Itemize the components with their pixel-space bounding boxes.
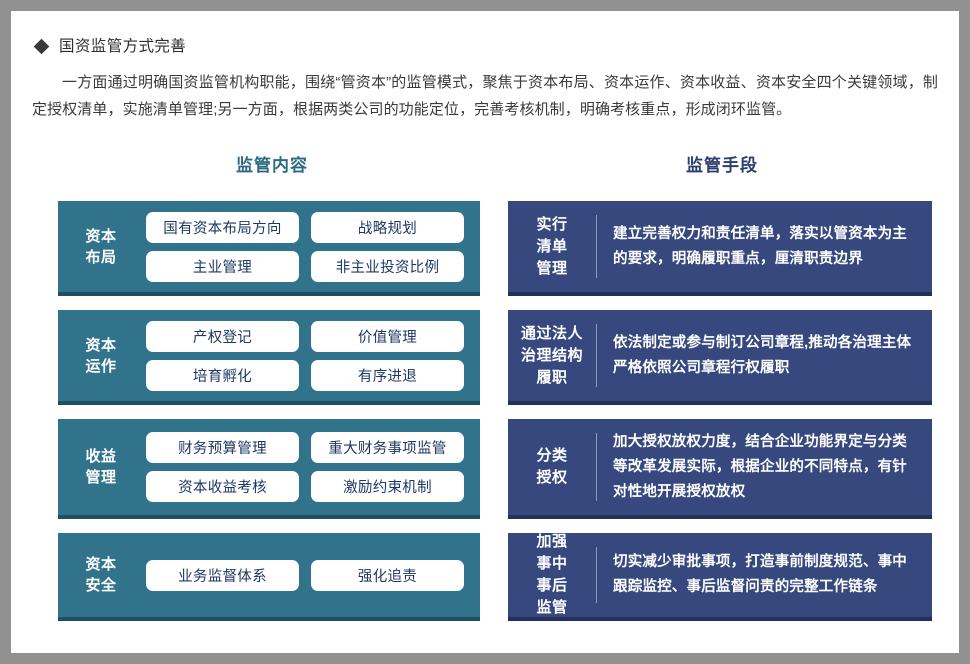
pill-grid: 国有资本布局方向 战略规划 主业管理 非主业投资比例 bbox=[144, 212, 466, 282]
content-card-capital-security[interactable]: 资本 安全 业务监督体系 强化追责 bbox=[58, 533, 480, 621]
card-label-line: 安全 bbox=[58, 575, 144, 596]
content-pill[interactable]: 价值管理 bbox=[311, 321, 464, 352]
slide-page: 国资监管方式完善 一方面通过明确国资监管机构职能，围绕“管资本”的监管模式，聚焦… bbox=[11, 11, 959, 653]
card-label: 实行 清单 管理 bbox=[508, 214, 596, 280]
content-pill[interactable]: 业务监督体系 bbox=[146, 560, 299, 591]
content-pill[interactable]: 产权登记 bbox=[146, 321, 299, 352]
content-pill[interactable]: 财务预算管理 bbox=[146, 432, 299, 463]
card-label: 资本 运作 bbox=[58, 335, 144, 377]
card-label-line: 资本 bbox=[58, 554, 144, 575]
content-pill[interactable]: 激励约束机制 bbox=[311, 471, 464, 502]
card-label-line: 授权 bbox=[508, 467, 596, 489]
card-label: 分类 授权 bbox=[508, 445, 596, 489]
content-pill[interactable]: 战略规划 bbox=[311, 212, 464, 243]
content-pill[interactable]: 重大财务事项监管 bbox=[311, 432, 464, 463]
pill-grid: 业务监督体系 强化追责 bbox=[144, 560, 466, 591]
card-label: 资本 布局 bbox=[58, 226, 144, 268]
method-description: 依法制定或参与制订公司章程,推动各治理主体严格依照公司章程行权履职 bbox=[597, 331, 916, 381]
card-label-line: 治理结构 bbox=[508, 345, 596, 367]
method-description: 切实减少审批事项，打造事前制度规范、事中跟踪监控、事后监督问责的完整工作链条 bbox=[597, 550, 916, 600]
card-label: 资本 安全 bbox=[58, 554, 144, 596]
supervision-content-column: 资本 布局 国有资本布局方向 战略规划 主业管理 非主业投资比例 资本 运作 产… bbox=[58, 201, 480, 621]
card-label: 加强 事中 事后 监管 bbox=[508, 531, 596, 619]
card-label-line: 事中 bbox=[508, 553, 596, 575]
diamond-bullet-icon bbox=[34, 39, 50, 55]
card-label-line: 实行 bbox=[508, 214, 596, 236]
method-card-process-supervision[interactable]: 加强 事中 事后 监管 切实减少审批事项，打造事前制度规范、事中跟踪监控、事后监… bbox=[508, 533, 932, 621]
content-card-profit-management[interactable]: 收益 管理 财务预算管理 重大财务事项监管 资本收益考核 激励约束机制 bbox=[58, 419, 480, 519]
content-pill[interactable]: 强化追责 bbox=[311, 560, 464, 591]
content-card-capital-operation[interactable]: 资本 运作 产权登记 价值管理 培育孵化 有序进退 bbox=[58, 310, 480, 405]
card-label-line: 布局 bbox=[58, 247, 144, 268]
card-label-line: 分类 bbox=[508, 445, 596, 467]
card-label-line: 资本 bbox=[58, 226, 144, 247]
card-label-line: 资本 bbox=[58, 335, 144, 356]
card-label-line: 监管 bbox=[508, 597, 596, 619]
card-label-line: 收益 bbox=[58, 446, 144, 467]
column-header-supervision-content: 监管内容 bbox=[58, 151, 486, 176]
card-label-line: 事后 bbox=[508, 575, 596, 597]
page-title: 国资监管方式完善 bbox=[59, 39, 186, 55]
card-label-line: 管理 bbox=[58, 467, 144, 488]
method-card-corporate-governance[interactable]: 通过法人 治理结构 履职 依法制定或参与制订公司章程,推动各治理主体严格依照公司… bbox=[508, 310, 932, 405]
card-label-line: 通过法人 bbox=[508, 323, 596, 345]
card-label: 收益 管理 bbox=[58, 446, 144, 488]
content-pill[interactable]: 国有资本布局方向 bbox=[146, 212, 299, 243]
card-label-line: 履职 bbox=[508, 367, 596, 389]
method-card-classified-authorization[interactable]: 分类 授权 加大授权放权力度，结合企业功能界定与分类等改革发展实际，根据企业的不… bbox=[508, 419, 932, 519]
pill-grid: 财务预算管理 重大财务事项监管 资本收益考核 激励约束机制 bbox=[144, 432, 466, 502]
method-description: 建立完善权力和责任清单，落实以管资本为主的要求，明确履职重点，厘清职责边界 bbox=[597, 222, 916, 272]
supervision-methods-column: 实行 清单 管理 建立完善权力和责任清单，落实以管资本为主的要求，明确履职重点，… bbox=[508, 201, 932, 621]
content-card-capital-layout[interactable]: 资本 布局 国有资本布局方向 战略规划 主业管理 非主业投资比例 bbox=[58, 201, 480, 296]
card-label-line: 加强 bbox=[508, 531, 596, 553]
card-label-line: 运作 bbox=[58, 356, 144, 377]
intro-paragraph: 一方面通过明确国资监管机构职能，围绕“管资本”的监管模式，聚焦于资本布局、资本运… bbox=[32, 69, 938, 123]
content-pill[interactable]: 有序进退 bbox=[311, 360, 464, 391]
section-heading: 国资监管方式完善 bbox=[36, 39, 186, 55]
column-header-supervision-methods: 监管手段 bbox=[508, 151, 936, 176]
card-label-line: 管理 bbox=[508, 258, 596, 280]
card-label: 通过法人 治理结构 履职 bbox=[508, 323, 596, 389]
content-pill[interactable]: 主业管理 bbox=[146, 251, 299, 282]
method-card-list-management[interactable]: 实行 清单 管理 建立完善权力和责任清单，落实以管资本为主的要求，明确履职重点，… bbox=[508, 201, 932, 296]
content-pill[interactable]: 培育孵化 bbox=[146, 360, 299, 391]
method-description: 加大授权放权力度，结合企业功能界定与分类等改革发展实际，根据企业的不同特点，有针… bbox=[597, 430, 916, 505]
pill-grid: 产权登记 价值管理 培育孵化 有序进退 bbox=[144, 321, 466, 391]
content-pill[interactable]: 非主业投资比例 bbox=[311, 251, 464, 282]
card-label-line: 清单 bbox=[508, 236, 596, 258]
content-pill[interactable]: 资本收益考核 bbox=[146, 471, 299, 502]
